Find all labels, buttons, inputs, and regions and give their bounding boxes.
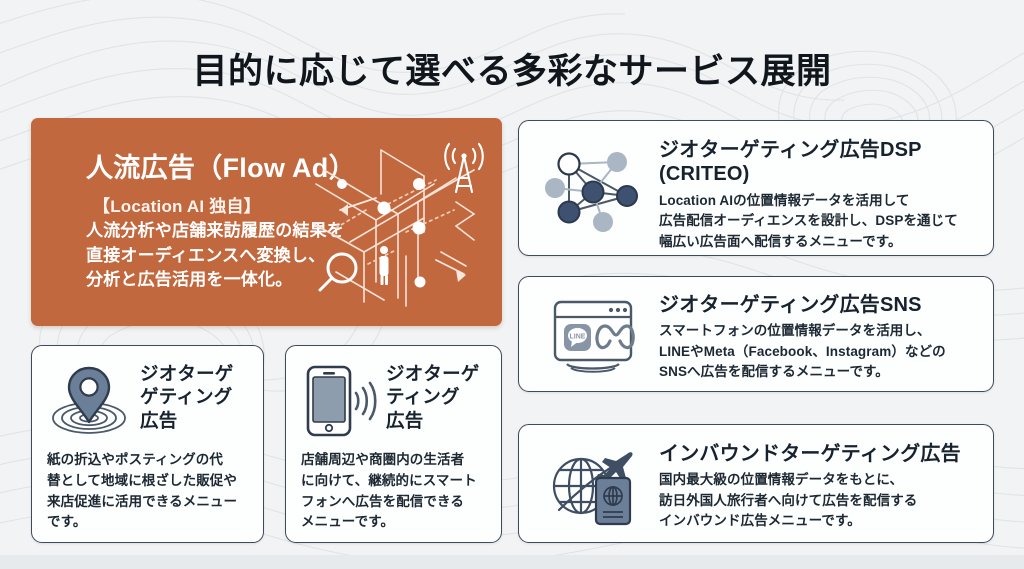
phone-body-line: 店舗周辺や商圏内の生活者 — [301, 450, 491, 471]
inbound-heading-line: インバウンドターゲティング広告 — [659, 442, 979, 466]
sns-body-line: スマートフォンの位置情報データを活用し、 — [659, 321, 979, 342]
phone-heading: ジオターゲ ティング 広告 — [386, 362, 493, 432]
dsp-heading: ジオターゲティング広告DSP (CRITEO) — [659, 138, 979, 187]
smartphone-signal-icon — [302, 362, 378, 440]
dsp-body-line: 広告配信オーディエンスを設計し、DSPを通じて — [659, 211, 979, 232]
dsp-body: Location AIの位置情報データを活用して 広告配信オーディエンスを設計し… — [659, 191, 979, 253]
geo-body-line: 紙の折込やポスティングの代 — [47, 450, 253, 471]
sns-body: スマートフォンの位置情報データを活用し、 LINEやMeta（Facebook、… — [659, 321, 979, 383]
map-pin-ripple-icon — [46, 360, 132, 438]
geo-body-line: です。 — [47, 512, 253, 533]
dsp-body-line: Location AIの位置情報データを活用して — [659, 191, 979, 212]
globe-airplane-passport-icon — [541, 434, 645, 534]
geo-heading-line: ジオターゲ — [140, 362, 255, 385]
geo-body: 紙の折込やポスティングの代 替として地域に根ざした販促や 来店促進に活用できるメ… — [47, 450, 253, 533]
phone-card[interactable]: ジオターゲ ティング 広告 店舗周辺や商圏内の生活者 に向けて、継続的にスマート… — [285, 345, 502, 543]
geo-heading: ジオターゲ ゲティング 広告 — [140, 362, 255, 432]
inbound-body-line: 国内最大級の位置情報データをもとに、 — [659, 470, 979, 491]
phone-body-line: フォンへ広告を配信できる — [301, 492, 491, 513]
geo-body-line: 来店促進に活用できるメニュー — [47, 492, 253, 513]
dsp-card[interactable]: ジオターゲティング広告DSP (CRITEO) Location AIの位置情報… — [518, 120, 994, 256]
network-graph-icon — [541, 138, 645, 238]
page-title: 目的に応じて選べる多彩なサービス展開 — [0, 53, 1024, 92]
phone-heading-line: 広告 — [386, 409, 493, 432]
geo-heading-line: 広告 — [140, 409, 255, 432]
inbound-body-line: 訪日外国人旅行者へ向けて広告を配信する — [659, 491, 979, 512]
inbound-body: 国内最大級の位置情報データをもとに、 訪日外国人旅行者へ向けて広告を配信する イ… — [659, 470, 979, 532]
inbound-heading: インバウンドターゲティング広告 — [659, 442, 979, 466]
sns-heading-line: ジオターゲティング広告SNS — [659, 293, 979, 317]
flow-ad-subtitle: 【Location AI 独自】 — [93, 192, 261, 217]
phone-body-line: に向けて、継続的にスマート — [301, 471, 491, 492]
sns-body-line: SNSへ広告を配信するメニューです。 — [659, 362, 979, 383]
sns-card[interactable]: LINE ジオターゲティング広告SNS スマートフォンの位置情報データを活用し、… — [518, 276, 994, 392]
dsp-heading-line: ジオターゲティング広告DSP — [659, 138, 979, 162]
dsp-body-line: 幅広い広告面へ配信するメニューです。 — [659, 232, 979, 253]
dsp-heading-line: (CRITEO) — [659, 162, 979, 186]
sns-body-line: LINEやMeta（Facebook、Instagram）などの — [659, 342, 979, 363]
bottom-band — [0, 555, 1024, 569]
phone-body: 店舗周辺や商圏内の生活者 に向けて、継続的にスマート フォンへ広告を配信できる … — [301, 450, 491, 533]
phone-heading-line: ジオターゲ — [386, 362, 493, 385]
browser-social-logos-icon: LINE — [541, 284, 645, 384]
inbound-text-block: インバウンドターゲティング広告 国内最大級の位置情報データをもとに、 訪日外国人… — [659, 442, 979, 532]
dsp-text-block: ジオターゲティング広告DSP (CRITEO) Location AIの位置情報… — [659, 138, 979, 252]
slide-canvas: 目的に応じて選べる多彩なサービス展開 人流広告（Flow Ad） 【Locati… — [0, 0, 1024, 569]
sns-heading: ジオターゲティング広告SNS — [659, 293, 979, 317]
line-logo-text: LINE — [570, 333, 586, 340]
phone-heading-line: ティング — [386, 385, 493, 408]
isometric-map-network-illustration — [306, 132, 496, 310]
phone-body-line: メニューです。 — [301, 512, 491, 533]
geo-card[interactable]: ジオターゲ ゲティング 広告 紙の折込やポスティングの代 替として地域に根ざした… — [31, 345, 264, 543]
inbound-card[interactable]: インバウンドターゲティング広告 国内最大級の位置情報データをもとに、 訪日外国人… — [518, 424, 994, 543]
sns-text-block: ジオターゲティング広告SNS スマートフォンの位置情報データを活用し、 LINE… — [659, 293, 979, 383]
geo-body-line: 替として地域に根ざした販促や — [47, 471, 253, 492]
inbound-body-line: インバウンド広告メニューです。 — [659, 511, 979, 532]
flow-ad-card[interactable]: 人流広告（Flow Ad） 【Location AI 独自】 人流分析や店舗来訪… — [31, 118, 502, 326]
geo-heading-line: ゲティング — [140, 385, 255, 408]
